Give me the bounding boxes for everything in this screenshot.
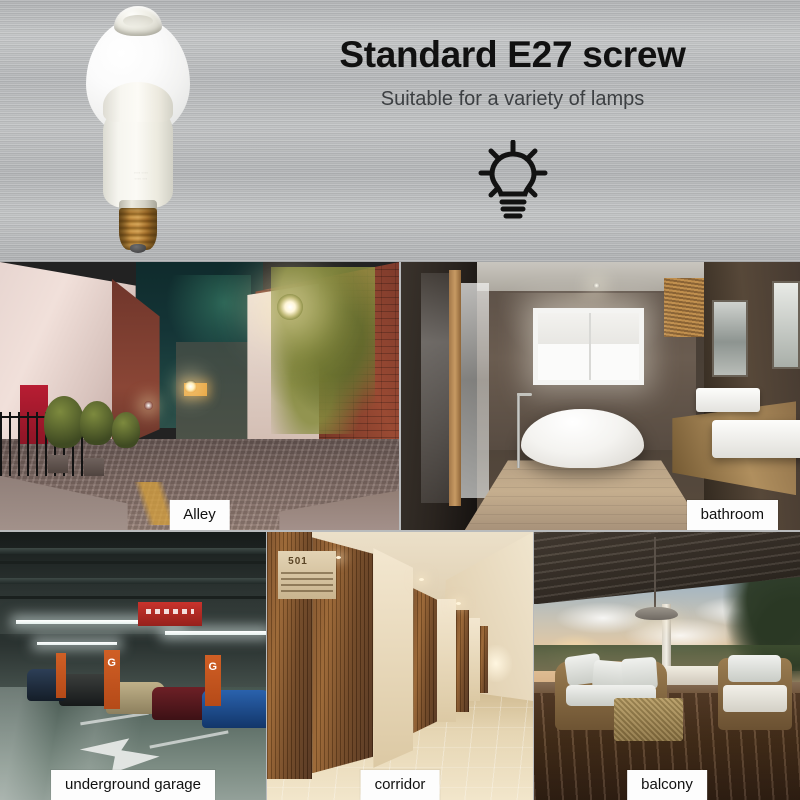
header-banner: ▫▫▫▫ ▫▫▫▫ ▫▫▫▫ ▫▫▫ Standard E27 screw Su…	[0, 0, 800, 262]
floor-standing-tap	[517, 393, 520, 468]
scene-tile-underground-garage[interactable]: G G underground garage	[0, 532, 266, 800]
frosted-sliding-door	[461, 283, 489, 497]
wooden-door	[456, 610, 469, 712]
garage-photo: G G	[0, 532, 266, 800]
slat-feature-wall	[664, 278, 704, 337]
cream-wall-segment	[437, 599, 456, 722]
corridor-photo: 501	[267, 532, 533, 800]
bulb-microprint: ▫▫▫▫ ▫▫▫▫ ▫▫▫▫ ▫▫▫	[119, 170, 163, 187]
mirror-near	[772, 281, 800, 369]
bulb-body: ▫▫▫▫ ▫▫▫▫ ▫▫▫▫ ▫▫▫	[103, 104, 173, 208]
cream-wall-segment	[373, 548, 413, 768]
ivy-foliage	[271, 267, 375, 433]
scene-tile-corridor[interactable]: 501 corridor	[267, 532, 533, 800]
cream-wall-segment	[469, 618, 480, 701]
bathroom-photo	[401, 262, 800, 530]
alley-photo	[0, 262, 399, 530]
planter-box	[84, 458, 104, 476]
room-number: 501	[288, 556, 308, 567]
mirror-far	[712, 300, 748, 378]
lightbulb-icon	[476, 140, 550, 226]
window-blind	[538, 313, 640, 344]
ceiling-downlight	[419, 578, 424, 581]
scene-label-corridor: corridor	[361, 770, 440, 800]
parking-pillar: G	[104, 650, 120, 709]
rattan-coffee-table	[614, 698, 683, 741]
potted-shrub	[80, 401, 114, 445]
balcony-photo	[534, 532, 800, 800]
armchair-back-cushion	[728, 655, 781, 682]
wash-basin-far	[696, 388, 760, 412]
wooden-door-frame	[449, 270, 461, 506]
pillar-zone-letter: G	[104, 657, 120, 669]
scene-label-balcony: balcony	[627, 770, 707, 800]
application-scenes-grid: Alley	[0, 262, 800, 800]
scene-label-bathroom: bathroom	[687, 500, 778, 530]
far-street-lamp	[144, 401, 153, 410]
page-subtitle: Suitable for a variety of lamps	[240, 88, 785, 111]
scene-label-alley: Alley	[169, 500, 230, 530]
lightbulb-icon-wrapper	[240, 140, 785, 231]
scene-tile-bathroom[interactable]: bathroom	[401, 262, 800, 530]
product-bulb-image: ▫▫▫▫ ▫▫▫▫ ▫▫▫▫ ▫▫▫	[78, 4, 196, 256]
product-infographic: ▫▫▫▫ ▫▫▫▫ ▫▫▫▫ ▫▫▫ Standard E27 screw Su…	[0, 0, 800, 800]
parking-pillar: G	[205, 655, 221, 706]
bulb-contact-tip	[130, 244, 146, 253]
glass-shower-panel	[421, 273, 449, 503]
fluorescent-strip-light	[165, 631, 266, 635]
window	[533, 308, 645, 386]
fluorescent-strip-light	[37, 642, 117, 645]
scene-label-underground-garage: underground garage	[51, 770, 215, 800]
wash-basin-near	[712, 420, 800, 458]
wooden-door	[413, 588, 437, 733]
armchair-cushion	[723, 685, 787, 712]
red-wall-sign	[138, 602, 202, 626]
pir-sensor-dome	[114, 6, 162, 36]
ceiling-pipe	[0, 561, 266, 564]
room-number-sign: 501	[278, 551, 337, 599]
planter-box	[48, 455, 68, 473]
mid-street-lamp	[184, 380, 197, 393]
scene-tile-alley[interactable]: Alley	[0, 262, 399, 530]
ceiling-pipe	[0, 596, 266, 599]
parking-pillar	[56, 653, 67, 699]
scene-tile-balcony[interactable]: balcony	[534, 532, 800, 800]
sign-subtext	[281, 572, 332, 593]
banner-text-block: Standard E27 screw Suitable for a variet…	[240, 36, 785, 111]
pillar-zone-letter: G	[205, 661, 221, 673]
potted-shrub	[112, 412, 140, 448]
ceiling-duct	[0, 578, 266, 584]
wooden-door	[480, 626, 488, 693]
ceiling-duct	[0, 548, 266, 554]
ceiling-downlight	[456, 602, 461, 605]
potted-shrub	[44, 396, 84, 448]
pendant-lamp	[635, 607, 678, 620]
page-title: Standard E27 screw	[240, 36, 785, 75]
pendant-cord	[654, 537, 656, 609]
